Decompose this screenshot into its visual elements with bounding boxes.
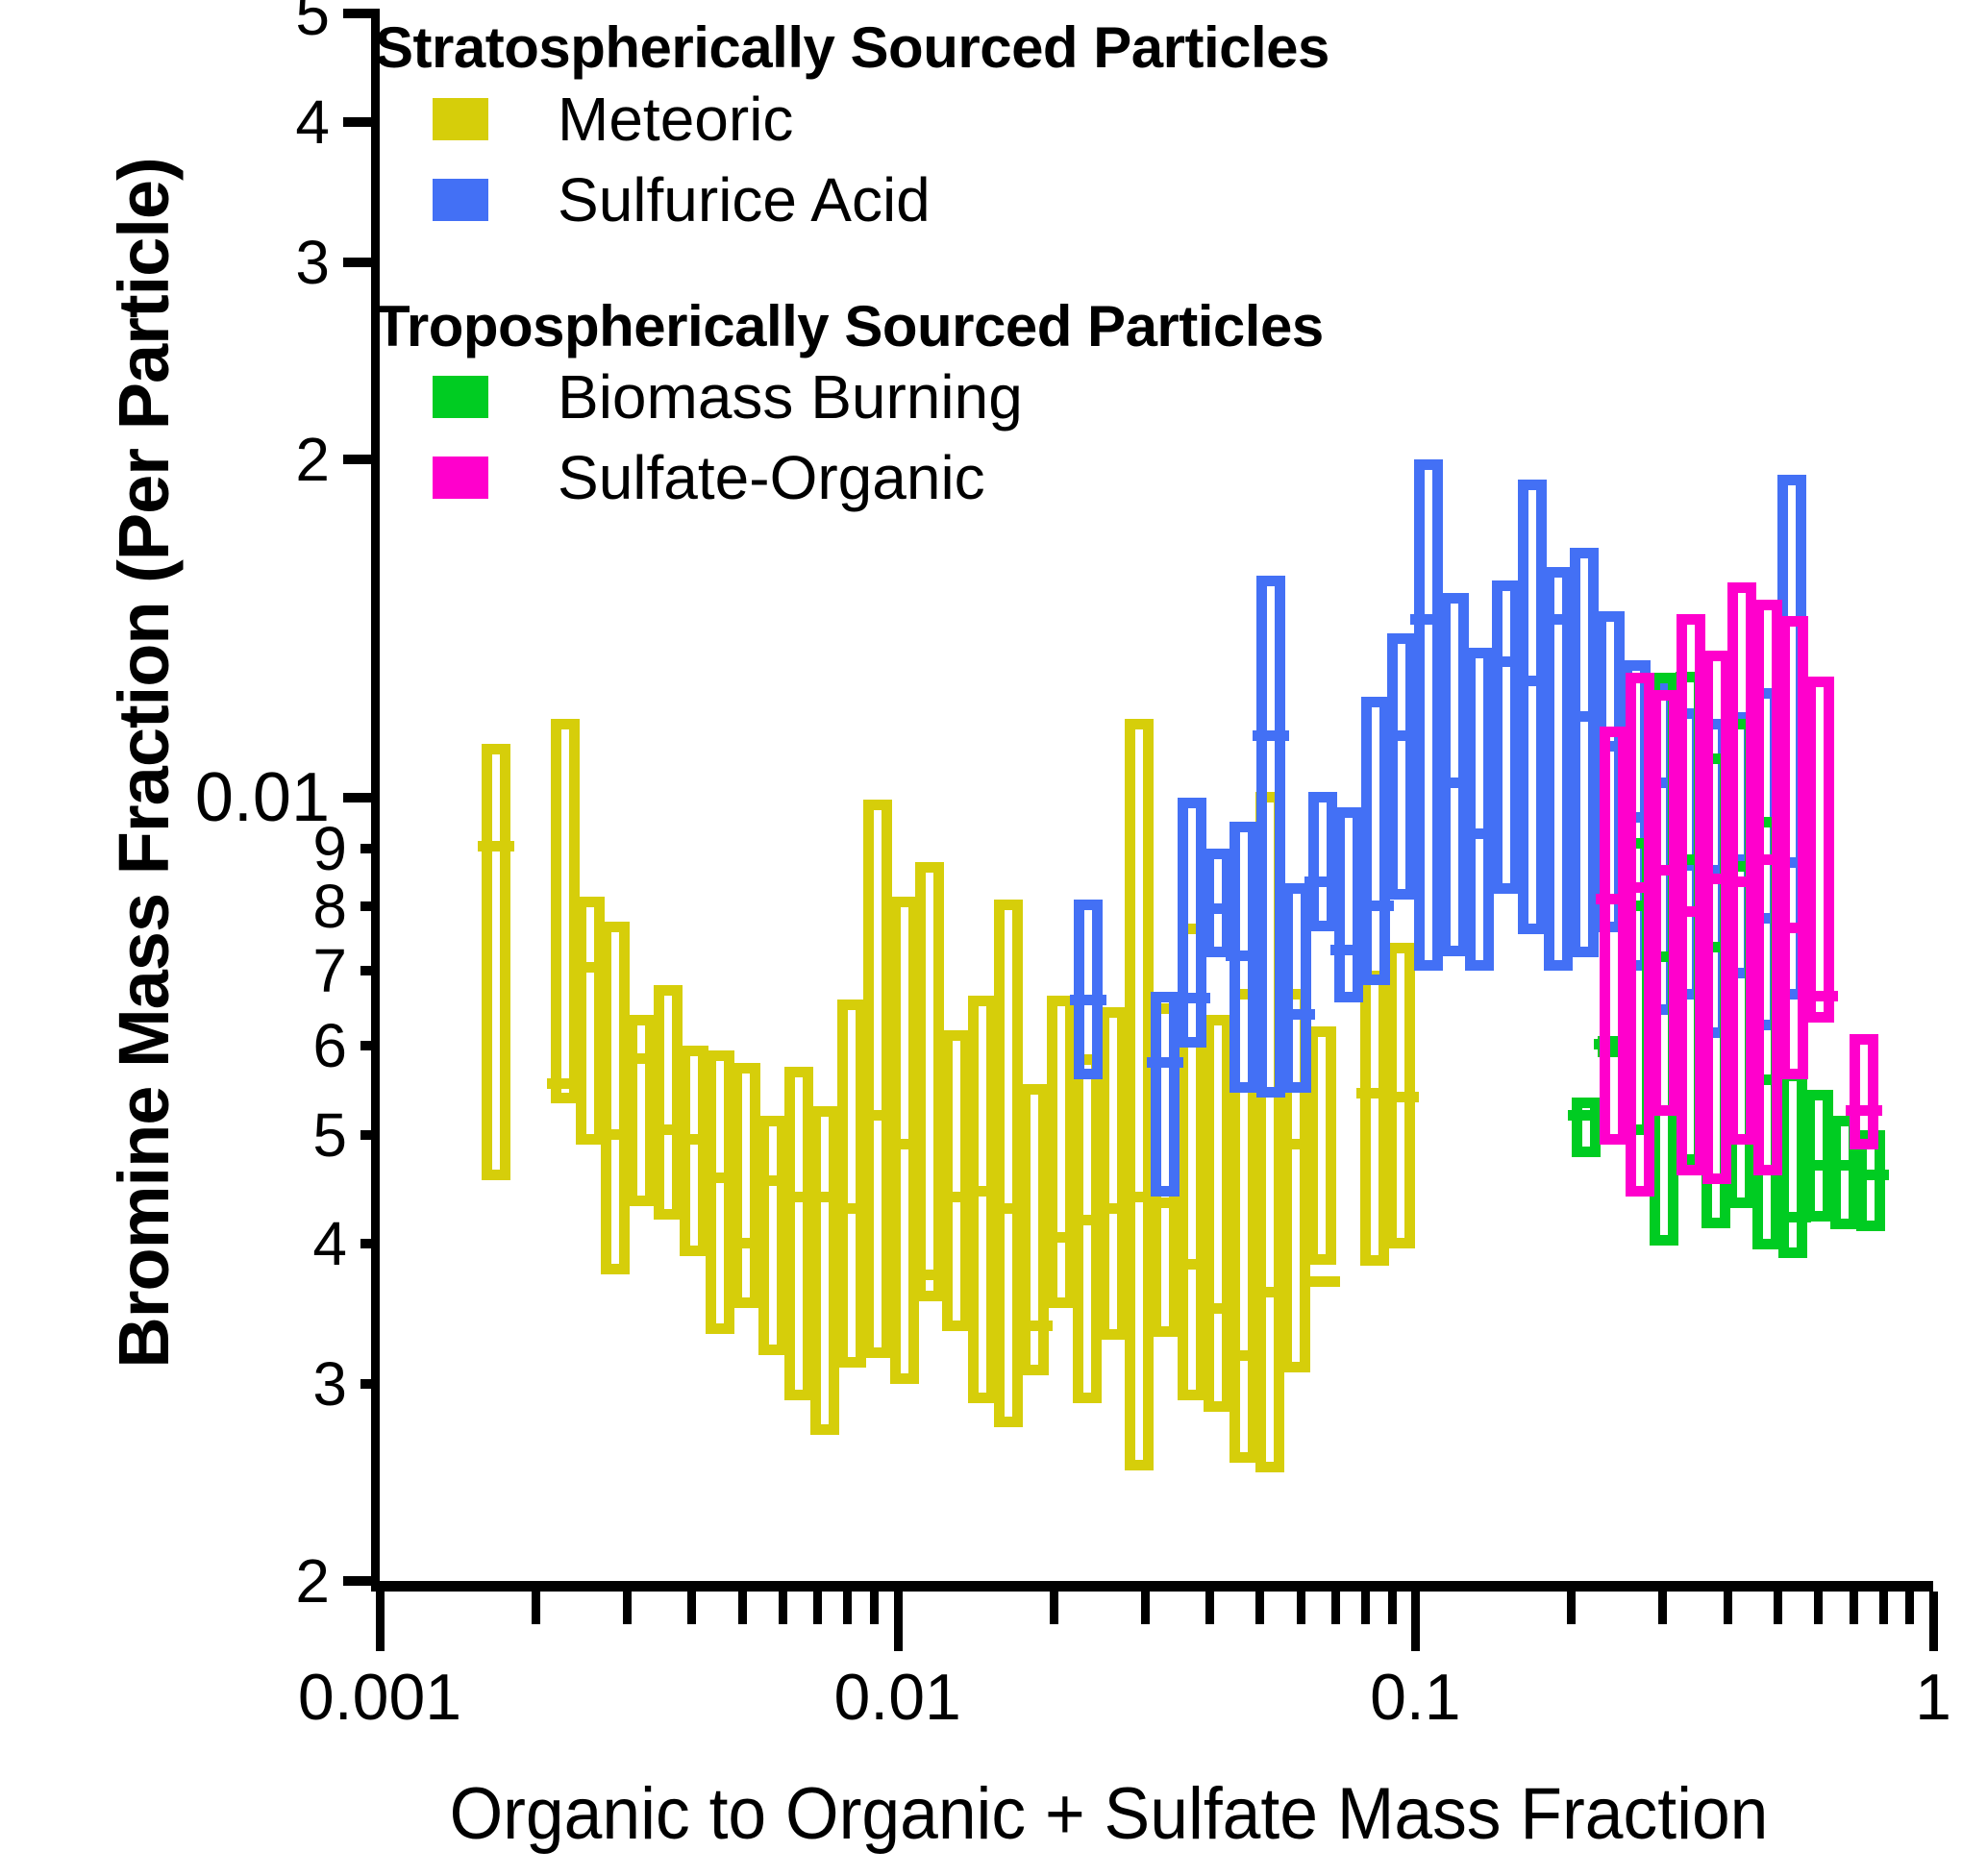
box-whisker [1544, 567, 1573, 971]
x-tick-mark-minor [1850, 1592, 1858, 1624]
legend-item-sulfuric-acid[interactable]: Sulfurice Acid [375, 160, 1336, 240]
x-tick-mark-minor [623, 1592, 632, 1624]
box-median-line [1304, 1276, 1340, 1287]
legend-swatch-icon [433, 457, 488, 499]
legend-item-label: Sulfurice Acid [558, 169, 931, 231]
legend-item-label: Sulfate-Organic [558, 447, 985, 508]
legend-swatch-icon [433, 179, 488, 221]
box-whisker [968, 996, 997, 1403]
x-tick-mark [376, 1592, 385, 1651]
x-tick-label: 0.1 [1370, 1665, 1461, 1730]
legend-spacer [375, 240, 1336, 296]
y-tick-label: 0.01 [195, 763, 330, 832]
box-whisker [1804, 1090, 1833, 1222]
y-tick-label: 3 [295, 232, 330, 293]
box-whisker [1805, 677, 1834, 1022]
x-tick-mark-minor [1567, 1592, 1576, 1624]
box-whisker [915, 862, 944, 1301]
box-whisker [1151, 992, 1180, 1197]
y-tick-mark [360, 966, 380, 975]
box-whisker [863, 800, 892, 1358]
box-whisker [654, 985, 683, 1220]
box-whisker [1308, 792, 1337, 930]
x-tick-label: 0.01 [833, 1665, 960, 1730]
box-whisker [994, 900, 1023, 1427]
x-tick-mark-minor [779, 1592, 787, 1624]
box-whisker [810, 1106, 839, 1435]
box-whisker [1125, 719, 1154, 1470]
x-tick-mark [1411, 1592, 1420, 1651]
x-tick-mark-minor [870, 1592, 879, 1624]
x-tick-mark-minor [1905, 1592, 1914, 1624]
x-tick-mark-minor [1255, 1592, 1264, 1624]
y-tick-mark [360, 1041, 380, 1050]
y-tick-label: 9 [312, 818, 347, 879]
x-tick-mark-minor [1331, 1592, 1340, 1624]
box-whisker [706, 1050, 734, 1335]
y-tick-label: 7 [312, 940, 347, 1001]
box-whisker [1518, 480, 1547, 934]
x-tick-mark-minor [1879, 1592, 1888, 1624]
box-whisker [1492, 580, 1521, 894]
legend-swatch-icon [433, 376, 488, 418]
box-whisker [1099, 1007, 1128, 1341]
x-tick-mark-minor [738, 1592, 747, 1624]
y-tick-label: 5 [295, 0, 330, 44]
legend-swatch-icon [433, 98, 488, 140]
box-whisker [1753, 600, 1782, 1175]
legend-group-title-stratospheric: Stratospherically Sourced Particles [375, 17, 1336, 79]
y-tick-label: 4 [312, 1213, 347, 1274]
box-whisker [1178, 798, 1206, 1049]
legend-item-meteoric[interactable]: Meteoric [375, 79, 1336, 160]
x-tick-mark-minor [532, 1592, 540, 1624]
box-whisker [942, 1030, 971, 1331]
box-whisker [601, 922, 630, 1275]
box-median-line [1253, 730, 1289, 741]
box-whisker [1570, 548, 1599, 957]
y-tick-label: 5 [312, 1104, 347, 1166]
x-tick-mark-minor [687, 1592, 696, 1624]
box-median-line [1070, 995, 1106, 1005]
x-tick-mark-minor [1205, 1592, 1214, 1624]
legend-item-sulfate-organic[interactable]: Sulfate-Organic [375, 437, 1336, 518]
box-median-line [1852, 1170, 1889, 1180]
y-tick-label: 2 [295, 1550, 330, 1612]
legend-item-biomass-burning[interactable]: Biomass Burning [375, 357, 1336, 437]
x-tick-mark [894, 1592, 903, 1651]
y-tick-label: 8 [312, 876, 347, 937]
box-whisker [1572, 1098, 1601, 1157]
y-axis-title: Bromine Mass Fraction (Per Particle) [98, 23, 190, 1503]
y-tick-mark [360, 844, 380, 853]
x-tick-mark-minor [1724, 1592, 1732, 1624]
chart-legend: Stratospherically Sourced ParticlesMeteo… [375, 17, 1336, 518]
y-tick-mark [343, 1576, 380, 1586]
legend-item-label: Biomass Burning [558, 366, 1023, 428]
y-tick-label: 4 [295, 91, 330, 153]
box-median-line [1846, 1105, 1882, 1116]
y-tick-mark [343, 793, 380, 802]
y-tick-mark [360, 1130, 380, 1140]
legend-group-title-tropospheric: Tropospherically Sourced Particles [375, 296, 1336, 358]
box-whisker [1677, 614, 1705, 1174]
box-whisker [1307, 1026, 1336, 1265]
x-tick-mark-minor [1050, 1592, 1058, 1624]
box-whisker [1073, 1054, 1102, 1403]
box-median-line [1357, 901, 1394, 911]
y-tick-mark [360, 1239, 380, 1248]
x-tick-mark-minor [1361, 1592, 1370, 1624]
box-whisker [482, 744, 510, 1180]
x-tick-mark-minor [1141, 1592, 1150, 1624]
x-tick-label: 1 [1915, 1665, 1951, 1730]
box-median-line [1147, 1057, 1183, 1068]
box-whisker [680, 1046, 708, 1255]
x-tick-mark [1929, 1592, 1938, 1651]
box-whisker [758, 1116, 787, 1355]
box-whisker [837, 1000, 866, 1368]
x-tick-mark-minor [843, 1592, 852, 1624]
y-tick-mark [360, 901, 380, 911]
box-whisker [784, 1067, 813, 1400]
x-tick-mark-minor [1658, 1592, 1667, 1624]
x-tick-mark-minor [813, 1592, 822, 1624]
box-whisker [1779, 616, 1808, 1079]
x-tick-mark-minor [1297, 1592, 1305, 1624]
y-tick-label: 2 [295, 429, 330, 490]
box-whisker [1047, 996, 1076, 1308]
chart-figure: Bromine Mass Fraction (Per Particle) 543… [0, 0, 1987, 1876]
box-whisker [1360, 971, 1389, 1266]
box-median-line [478, 841, 514, 852]
box-whisker [1626, 673, 1654, 1197]
box-median-line [1382, 1092, 1419, 1102]
box-whisker [1020, 1084, 1049, 1375]
legend-item-label: Meteoric [558, 88, 793, 150]
box-median-line [1016, 1321, 1053, 1331]
x-axis-title: Organic to Organic + Sulfate Mass Fracti… [284, 1766, 1934, 1863]
box-median-line [1279, 1009, 1315, 1020]
box-whisker [1651, 690, 1679, 1115]
y-tick-label: 6 [312, 1015, 347, 1076]
box-whisker [1850, 1034, 1878, 1149]
x-tick-mark-minor [1774, 1592, 1782, 1624]
box-whisker [627, 1015, 656, 1206]
box-median-line [1174, 993, 1210, 1003]
box-whisker [1387, 633, 1416, 900]
box-whisker [1702, 651, 1731, 1183]
box-whisker [1074, 900, 1103, 1079]
box-whisker [1465, 648, 1494, 972]
box-whisker [1282, 883, 1311, 1093]
y-tick-label: 3 [312, 1353, 347, 1415]
x-tick-mark-minor [1388, 1592, 1397, 1624]
x-axis-spine [371, 1581, 1933, 1592]
x-tick-label: 0.001 [298, 1665, 461, 1730]
y-tick-mark [360, 1379, 380, 1389]
x-tick-mark-minor [1814, 1592, 1823, 1624]
box-whisker [1414, 459, 1443, 971]
box-median-line [1801, 991, 1838, 1001]
